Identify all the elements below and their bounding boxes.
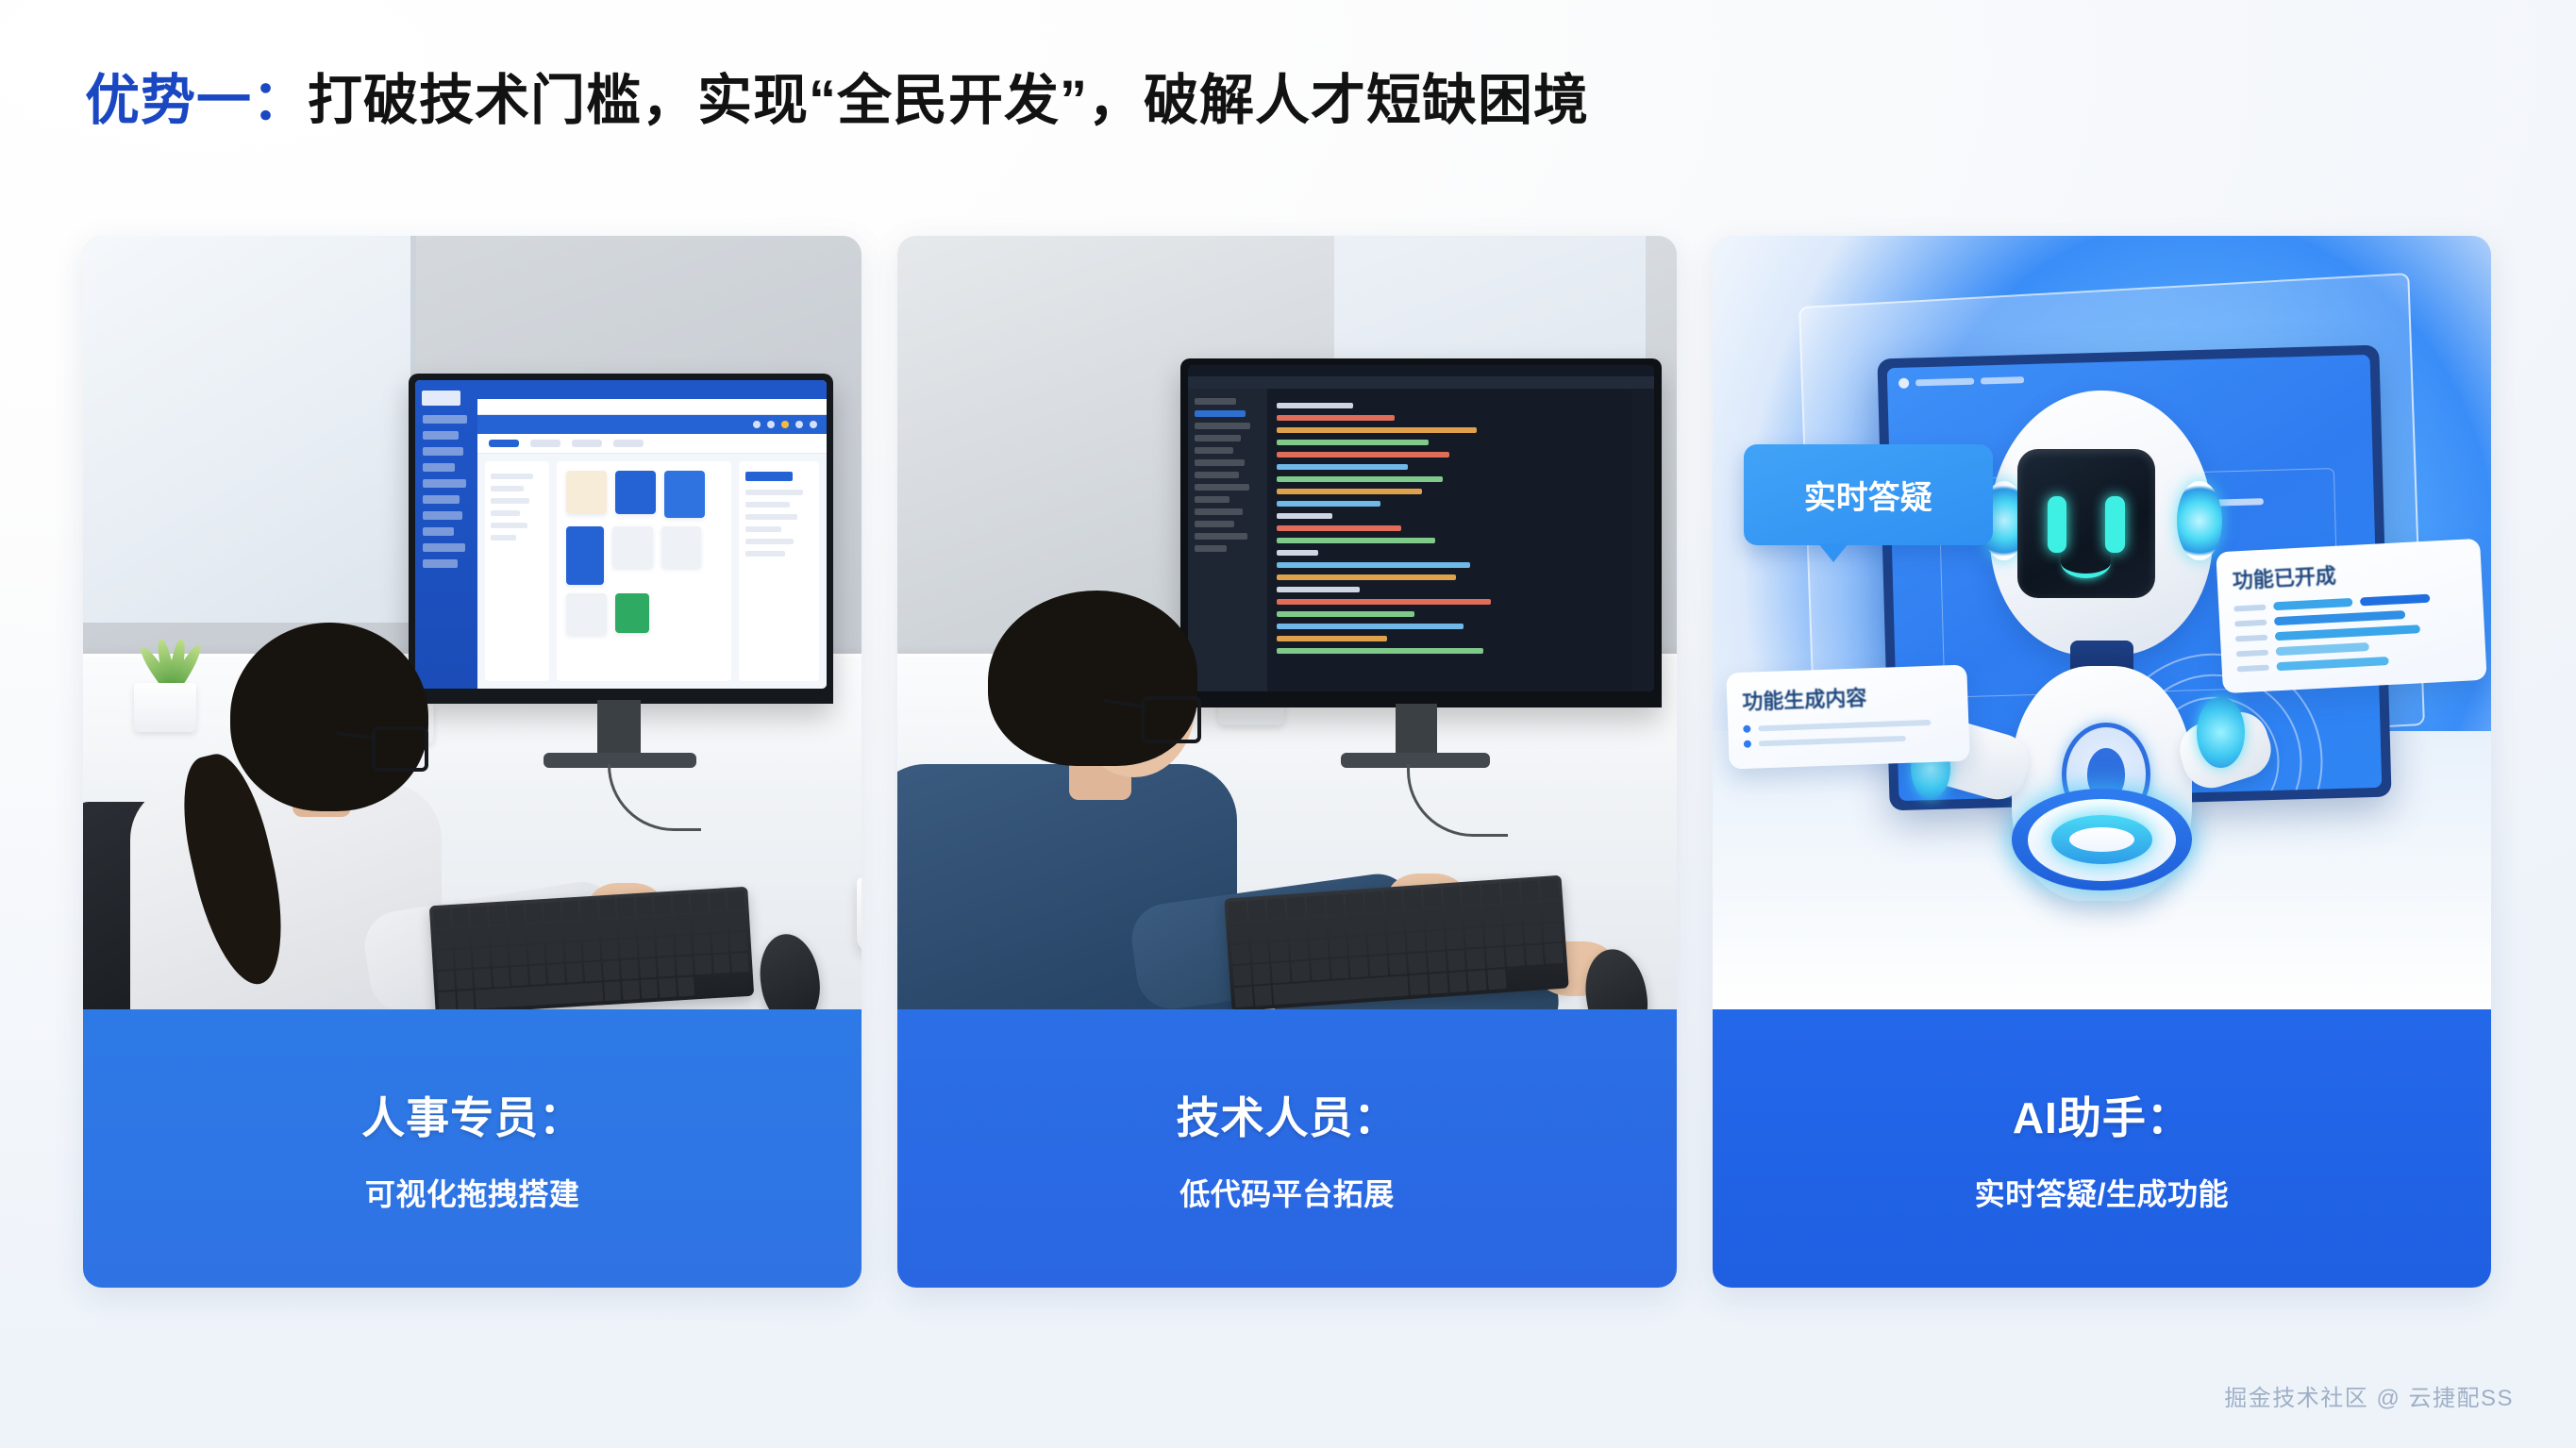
ai-info-card-left-title: 功能生成内容 [1742, 678, 1953, 716]
card-row: 人事专员： 可视化拖拽搭建 [83, 236, 2491, 1288]
card-2-subtitle: 低代码平台拓展 [1179, 1171, 1395, 1214]
desk-plant-icon [123, 641, 209, 732]
code-editor-ui [1188, 365, 1654, 691]
ai-info-card-right-title: 功能已开成 [2232, 553, 2467, 595]
card-1-title: 人事专员： [361, 1084, 583, 1146]
card-1-caption: 人事专员： 可视化拖拽搭建 [83, 1009, 861, 1288]
lowcode-canvas [557, 461, 731, 681]
card-2-photo [897, 236, 1676, 1009]
page-title-rest: 打破技术门槛，实现“全民开发”，破解人才短缺困境 [308, 70, 1589, 131]
robot-joint-right [2197, 697, 2245, 769]
slide-canvas: 优势一：打破技术门槛，实现“全民开发”，破解人才短缺困境 [0, 0, 2576, 1448]
monitor-1 [409, 374, 833, 704]
card-hr-specialist[interactable]: 人事专员： 可视化拖拽搭建 [83, 236, 861, 1288]
robot-eye-left [2048, 496, 2066, 553]
ai-speech-bubble-text: 实时答疑 [1804, 472, 1932, 518]
coffee-mug [857, 877, 861, 953]
ai-info-card-left: 功能生成内容 [1726, 665, 1969, 770]
robot-head [1990, 391, 2213, 656]
person-1-glasses-icon [372, 726, 428, 772]
monitor-2-screen [1188, 365, 1654, 691]
ai-speech-bubble: 实时答疑 [1744, 444, 1993, 545]
card-1-photo [83, 236, 861, 1009]
monitor-1-stand [597, 700, 641, 758]
lowcode-sidebar [415, 380, 477, 689]
robot-eye-right [2105, 496, 2124, 553]
editor-code-area [1267, 389, 1631, 691]
office-scene-2 [897, 236, 1676, 1009]
card-2-caption: 技术人员： 低代码平台拓展 [897, 1009, 1676, 1288]
office-scene-1 [83, 236, 861, 1009]
monitor-2 [1180, 358, 1662, 707]
robot-face-visor [2017, 449, 2155, 598]
ai-info-card-right: 功能已开成 [2216, 539, 2486, 693]
keyboard-1[interactable] [429, 887, 754, 1009]
watermark: 掘金技术社区 @ 云捷配SS [2224, 1379, 2514, 1412]
robot-ear-right [2177, 481, 2221, 560]
person-2-glasses-icon [1141, 696, 1201, 743]
robot-pedestal [2012, 789, 2192, 890]
card-2-title: 技术人员： [1176, 1084, 1397, 1146]
robot-smile [2061, 547, 2111, 578]
office-window [83, 236, 416, 623]
keyboard-2[interactable] [1225, 875, 1569, 1009]
card-3-caption: AI助手： 实时答疑/生成功能 [1713, 1009, 2491, 1288]
card-1-subtitle: 可视化拖拽搭建 [365, 1171, 580, 1214]
card-3-photo: 实时答疑 功能已开成 功能生成内容 [1713, 236, 2491, 1009]
ai-robot-icon [1969, 391, 2234, 901]
card-technical-staff[interactable]: 技术人员： 低代码平台拓展 [897, 236, 1676, 1288]
card-3-title: AI助手： [2013, 1084, 2191, 1146]
page-title-accent: 优势一： [85, 70, 308, 131]
monitor-1-screen [415, 380, 827, 689]
monitor-2-stand [1396, 704, 1437, 758]
card-3-subtitle: 实时答疑/生成功能 [1975, 1171, 2229, 1214]
ai-scene: 实时答疑 功能已开成 功能生成内容 [1713, 236, 2491, 1009]
editor-file-tree [1188, 389, 1267, 691]
ai-app-icon [1899, 377, 1909, 388]
card-ai-assistant[interactable]: 实时答疑 功能已开成 功能生成内容 [1713, 236, 2491, 1288]
page-title: 优势一：打破技术门槛，实现“全民开发”，破解人才短缺困境 [85, 74, 1589, 128]
lowcode-builder-ui [415, 380, 827, 689]
